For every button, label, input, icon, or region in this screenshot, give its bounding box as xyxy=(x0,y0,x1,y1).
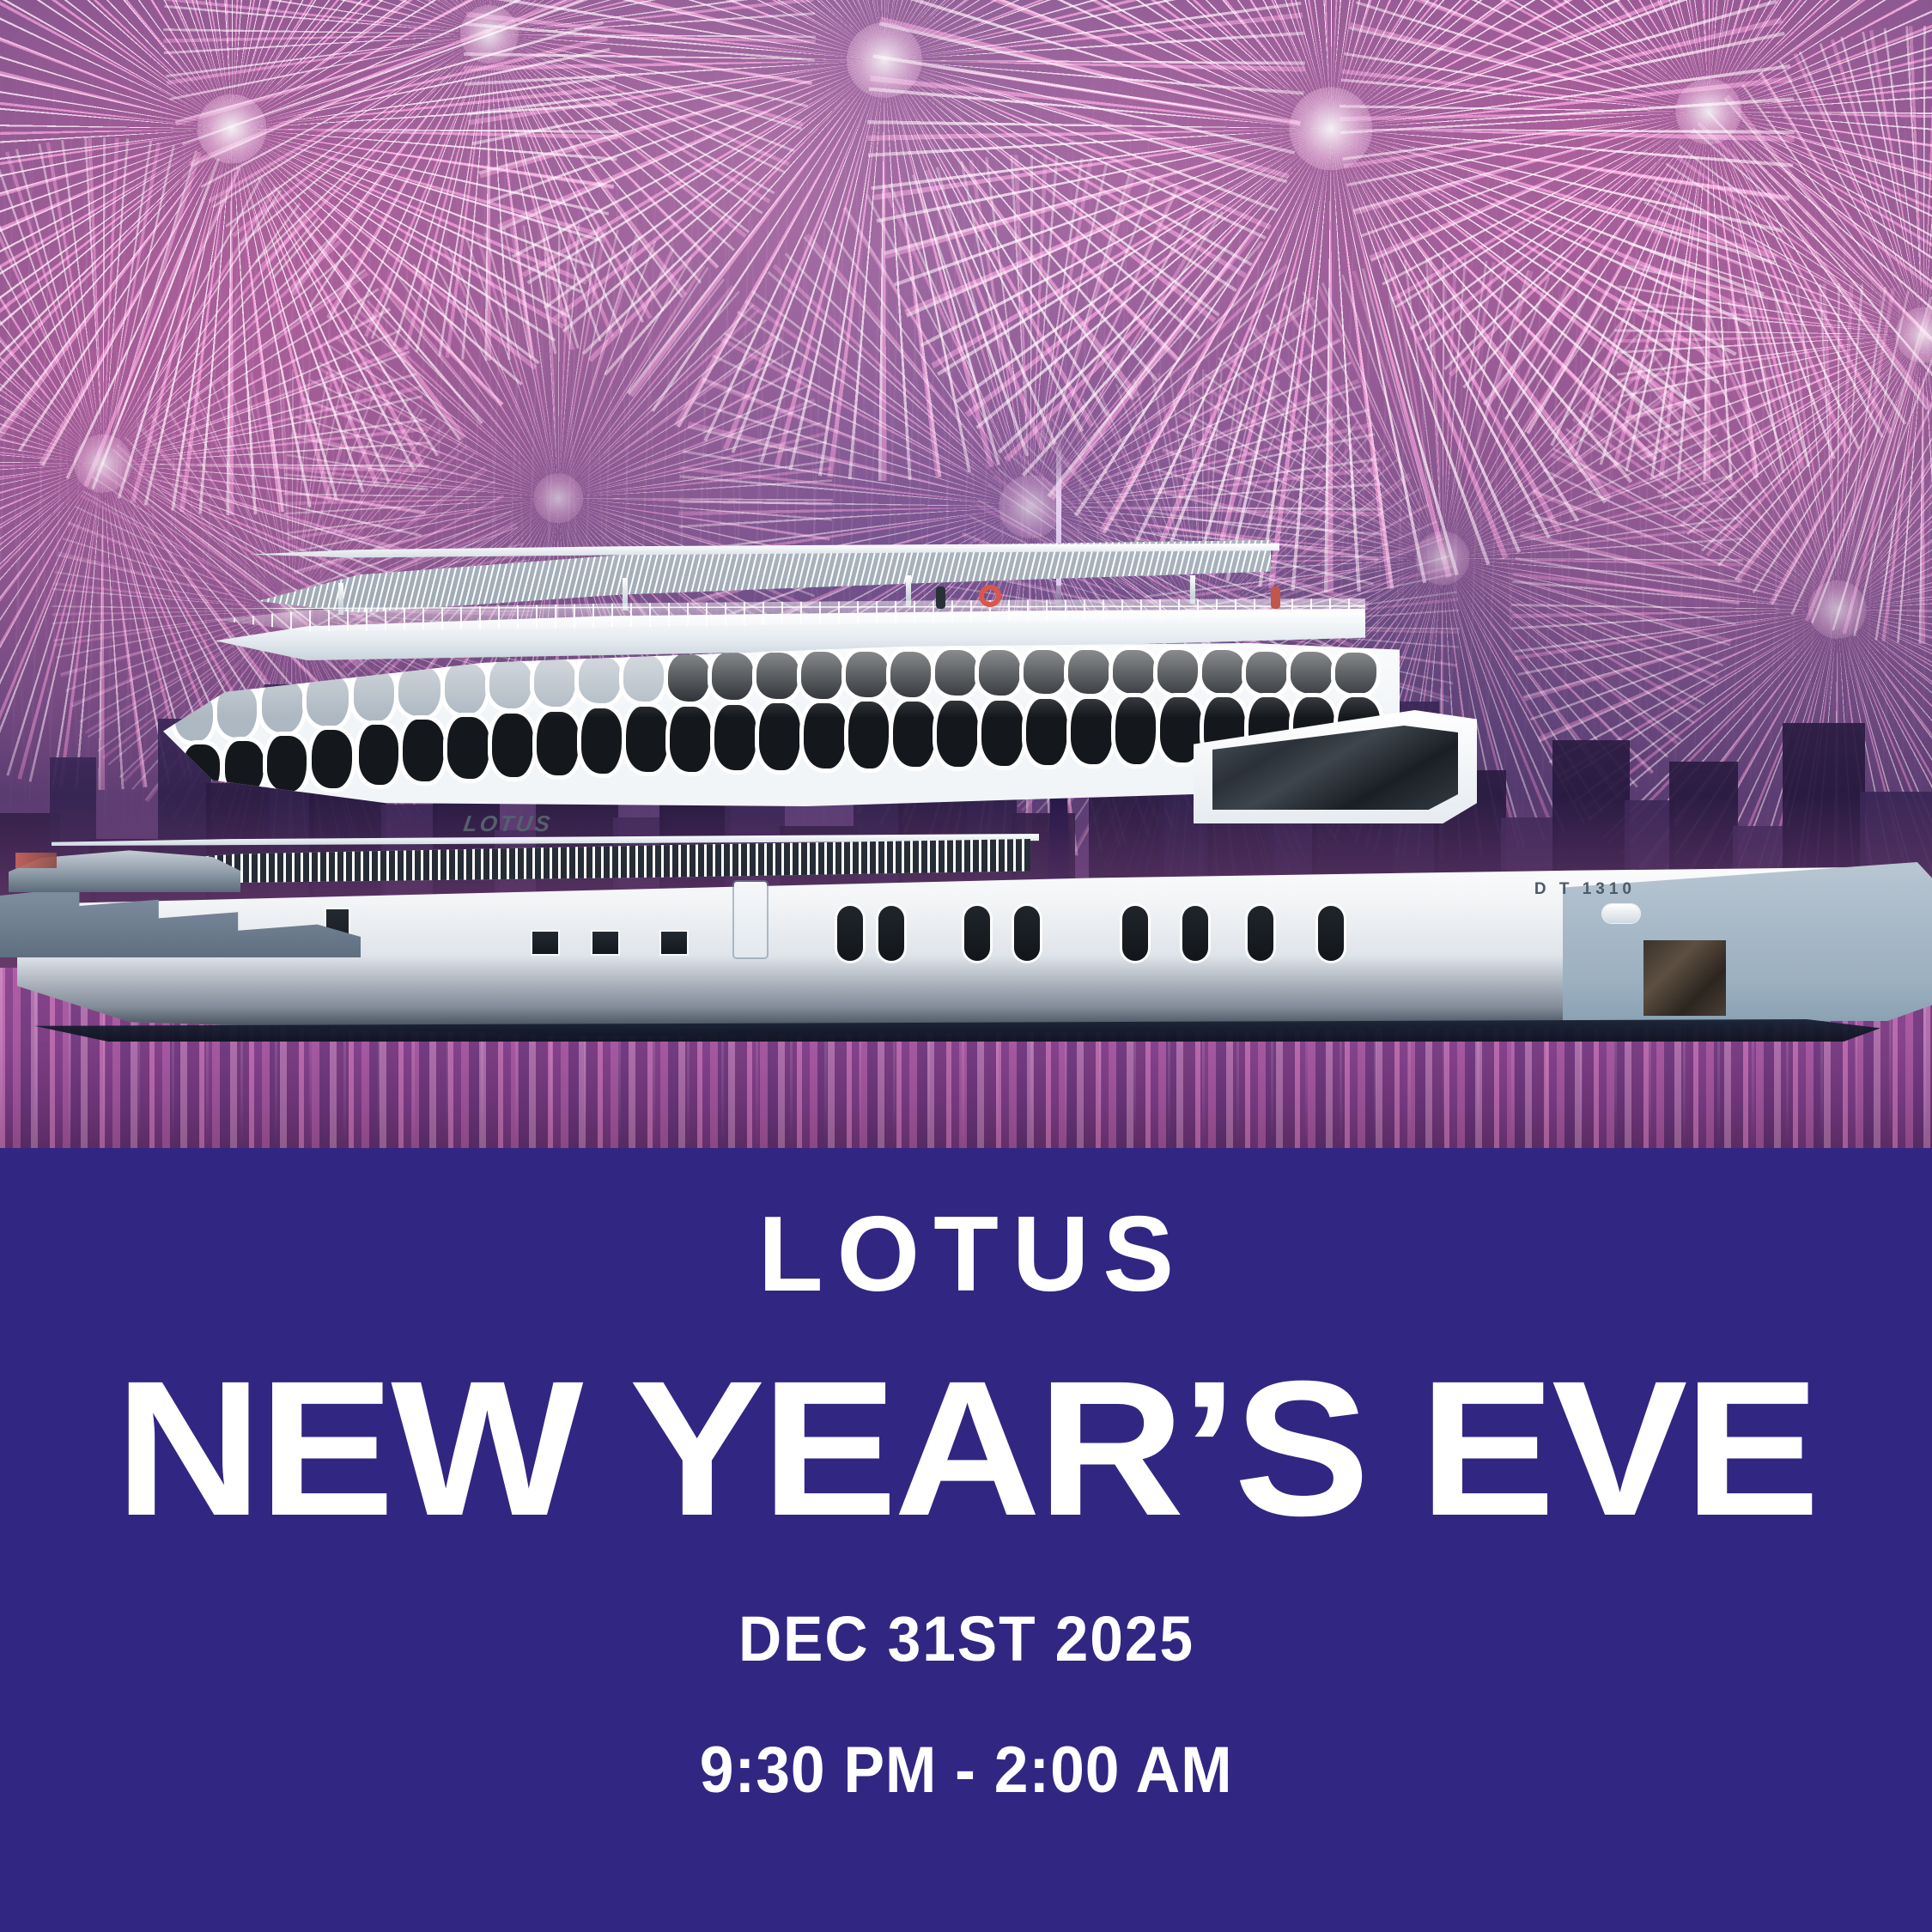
porthole-icon xyxy=(1122,906,1148,961)
hull-door xyxy=(734,882,767,957)
porthole-icon xyxy=(1248,906,1273,961)
porthole-icon xyxy=(837,906,863,961)
firework-burst-icon xyxy=(163,0,816,361)
stern-badge-icon xyxy=(1602,904,1640,923)
event-time: 9:30 PM - 2:00 AM xyxy=(700,1738,1233,1803)
hull-vent xyxy=(661,932,687,954)
porthole-icon xyxy=(878,906,904,961)
yacht-bow-accent xyxy=(15,853,57,868)
porthole-icon xyxy=(964,906,990,961)
deck-fixture xyxy=(936,586,945,609)
hull-registration-text: D T 1310 xyxy=(1534,880,1636,899)
hero-photo: LOTUS D T 1310 xyxy=(0,0,1932,1148)
hull-vent xyxy=(532,932,558,954)
life-ring-icon xyxy=(979,585,1001,607)
event-banner: LOTUS NEW YEAR’S EVE DEC 31ST 2025 9:30 … xyxy=(0,1148,1932,1932)
brand-name: LOTUS xyxy=(744,1201,1188,1308)
lotus-yacht: LOTUS D T 1310 xyxy=(0,504,1932,1036)
anchor-recess xyxy=(1643,940,1726,1016)
event-date: DEC 31ST 2025 xyxy=(738,1607,1194,1671)
hull-vent xyxy=(592,932,618,954)
porthole-row xyxy=(837,901,1370,961)
deck-fixture xyxy=(1271,586,1280,609)
yacht-brand-mark: LOTUS xyxy=(462,811,554,837)
firework-burst-icon xyxy=(0,0,618,515)
event-headline: NEW YEAR’S EVE xyxy=(115,1356,1816,1542)
firework-burst-icon xyxy=(464,0,1305,481)
porthole-icon xyxy=(1318,906,1344,961)
porthole-icon xyxy=(1182,906,1208,961)
poster: LOTUS D T 1310 xyxy=(0,0,1932,1932)
firework-burst-icon xyxy=(1340,0,1932,481)
porthole-icon xyxy=(1014,906,1040,961)
